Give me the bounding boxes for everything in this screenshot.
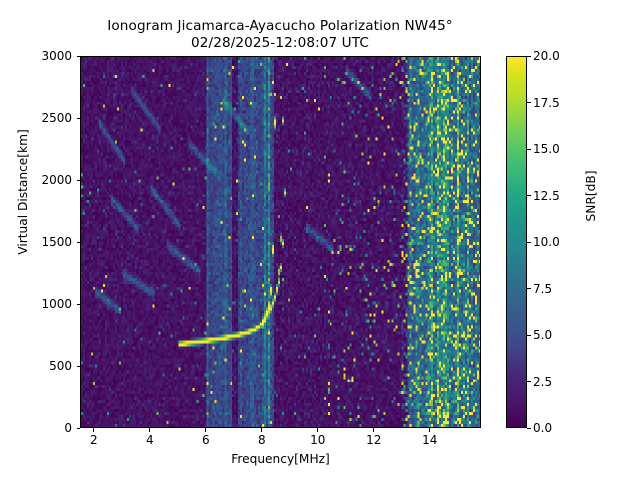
colorbar-tick-mark [527,335,531,336]
title-line-1: Ionogram Jicamarca-Ayacucho Polarization… [0,18,560,35]
xtick-label: 4 [130,433,170,447]
xtick-label: 6 [186,433,226,447]
xtick-label: 10 [298,433,338,447]
ytick-mark [77,118,81,119]
ytick-mark [77,56,81,57]
ionogram-heatmap [81,57,480,427]
colorbar-tick-label: 7.5 [533,282,552,296]
colorbar-tick-mark [527,381,531,382]
colorbar-tick-mark [527,195,531,196]
ytick-mark [77,304,81,305]
ytick-label: 0 [10,421,72,435]
ionogram-figure: Ionogram Jicamarca-Ayacucho Polarization… [0,0,640,480]
ytick-mark [77,180,81,181]
ytick-label: 1000 [10,297,72,311]
colorbar-tick-mark [527,288,531,289]
xtick-label: 12 [354,433,394,447]
colorbar-tick-label: 10.0 [533,235,560,249]
colorbar-tick-label: 0.0 [533,421,552,435]
colorbar-tick-label: 5.0 [533,328,552,342]
colorbar-tick-label: 17.5 [533,96,560,110]
colorbar-gradient [506,56,527,428]
colorbar-label: SNR[dB] [584,96,598,296]
y-axis-label: Virtual Distance[km] [16,92,30,292]
x-axis-label: Frequency[MHz] [80,452,481,466]
xtick-mark [373,428,374,432]
xtick-label: 2 [74,433,114,447]
xtick-mark [93,428,94,432]
xtick-mark [317,428,318,432]
ytick-mark [77,242,81,243]
colorbar-tick-label: 15.0 [533,142,560,156]
xtick-label: 8 [242,433,282,447]
ytick-label: 500 [10,359,72,373]
colorbar-tick-mark [527,149,531,150]
ytick-mark [77,428,81,429]
colorbar-tick-mark [527,56,531,57]
colorbar-tick-mark [527,102,531,103]
ytick-mark [77,366,81,367]
colorbar-tick-label: 2.5 [533,375,552,389]
figure-title: Ionogram Jicamarca-Ayacucho Polarization… [0,18,560,51]
colorbar-tick-mark [527,242,531,243]
title-line-2: 02/28/2025-12:08:07 UTC [0,35,560,52]
xtick-label: 14 [410,433,450,447]
colorbar-tick-label: 20.0 [533,49,560,63]
xtick-mark [149,428,150,432]
xtick-mark [261,428,262,432]
colorbar-tick-mark [527,428,531,429]
colorbar-tick-label: 12.5 [533,189,560,203]
xtick-mark [429,428,430,432]
xtick-mark [205,428,206,432]
plot-area [80,56,481,428]
ytick-label: 3000 [10,49,72,63]
